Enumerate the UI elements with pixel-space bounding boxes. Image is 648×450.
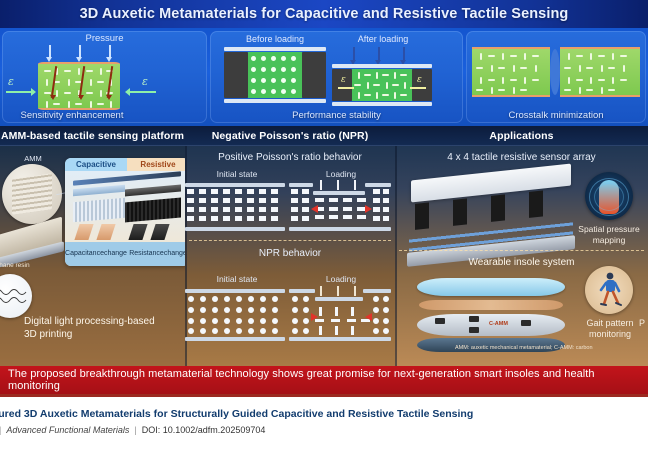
- resin-label: ...thane resin: [0, 262, 72, 269]
- page-title: 3D Auxetic Metamaterials for Capacitive …: [80, 6, 569, 22]
- printing-label-line2: 3D printing: [24, 329, 185, 340]
- before-loading-label: Before loading: [220, 34, 330, 44]
- ppr-initial-top-plate: [185, 183, 285, 187]
- stability-caption: Performance stability: [210, 110, 463, 121]
- polymer-chain-icon: [0, 274, 32, 318]
- mapping-label-line1: Spatial pressure: [573, 224, 645, 234]
- banner-panel-sensitivity: Pressure: [2, 31, 207, 123]
- after-electrode-right: [412, 69, 432, 101]
- before-dielectric: [248, 52, 302, 98]
- capacitance-change-label: Capacitance change: [65, 242, 127, 266]
- amm-circle-photo: [2, 164, 62, 224]
- doi-text[interactable]: DOI: 10.1002/adfm.202509704: [142, 425, 266, 435]
- citation-block: ...nufactured 3D Auxetic Metamaterials f…: [0, 394, 648, 450]
- npr-divider: [189, 240, 391, 241]
- npr-contraction-arrow-left: [311, 313, 318, 321]
- npr-loading-bottom-plate: [289, 337, 391, 341]
- main-content: AMM-based tactile sensing platform AMM .…: [0, 126, 648, 366]
- ppr-loading-label: Loading: [293, 169, 389, 179]
- sensitivity-caption: Sensitivity enhancement: [2, 110, 162, 121]
- load-arrow-3: [403, 47, 405, 61]
- sensor-stack-header: Capacitive Resistive: [65, 158, 185, 171]
- after-electrode-left: [332, 69, 352, 101]
- ppr-expansion-arrow-left: [311, 205, 318, 213]
- strain-arrow-left: [6, 91, 32, 93]
- insole-layer-top: [417, 278, 565, 296]
- npr-header-text: Negative Poisson's ratio (NPR): [212, 130, 369, 142]
- stack-layer-res-pillars: [125, 198, 181, 223]
- page-title-bar: 3D Auxetic Metamaterials for Capacitive …: [0, 0, 648, 28]
- highlight-banner-text: The proposed breakthrough metamaterial t…: [8, 368, 648, 392]
- npr-initial-lattice: [185, 294, 285, 336]
- applications-section-header: Applications: [395, 126, 648, 146]
- amm-label: AMM: [8, 154, 58, 163]
- platform-header-text: AMM-based tactile sensing platform: [1, 130, 184, 142]
- sensor-stack-footer: Capacitance change Resistance change: [65, 242, 185, 266]
- platform-section-header: AMM-based tactile sensing platform: [0, 126, 185, 146]
- mapping-label-line2: mapping: [573, 235, 645, 245]
- applications-divider: [399, 250, 644, 251]
- stack-layer-res-1: [125, 185, 181, 197]
- insole-layer-sensor: C-AMM: [417, 314, 565, 336]
- electrode-res-2: [150, 224, 169, 240]
- paper-title: ...nufactured 3D Auxetic Metamaterials f…: [0, 408, 648, 420]
- gait-circle-icon: [585, 266, 633, 314]
- npr-initial-bottom-plate: [185, 337, 285, 341]
- resistance-change-line2: change: [164, 250, 185, 258]
- load-arrow-2: [378, 47, 380, 61]
- column-applications: Applications 4 x 4 tactile resistive sen…: [395, 126, 648, 366]
- resistive-label: Resistive: [127, 158, 185, 171]
- after-strain-arrow-right: [410, 87, 426, 89]
- after-dielectric: [352, 69, 412, 101]
- before-electrode-right: [302, 52, 326, 98]
- stack-layer-top: [73, 171, 181, 185]
- ppr-expansion-arrow-right: [365, 205, 372, 213]
- citation-rule: [0, 394, 648, 397]
- abbreviation-footnote: AMM: auxetic mechanical metamaterial; C-…: [455, 345, 593, 351]
- walking-person-icon: [585, 266, 633, 314]
- strain-symbol-left: ε: [8, 75, 14, 88]
- before-bottom-plate: [224, 99, 326, 103]
- stack-layer-cap-1: [73, 185, 125, 197]
- ppr-initial-lattice: [185, 188, 285, 226]
- npr-loading-lattice: [289, 294, 391, 336]
- stack-layer-cap-pillars: [73, 198, 125, 223]
- crosstalk-slab-right: [560, 47, 640, 97]
- strain-symbol-right: ε: [142, 75, 148, 88]
- applications-header-text: Applications: [489, 130, 553, 142]
- crosstalk-slab-left: [472, 47, 550, 97]
- npr-initial-top-plate: [185, 289, 285, 293]
- compression-arrowhead-1: [50, 95, 56, 100]
- pressure-label: Pressure: [2, 33, 207, 44]
- column-npr: Negative Poisson's ratio (NPR) Positive …: [185, 126, 395, 366]
- ppr-loading-lattice: [289, 188, 391, 226]
- resistance-change-label: Resistance change: [127, 242, 185, 266]
- ppr-subtitle: Positive Poisson's ratio behavior: [185, 152, 395, 163]
- insole-chip-label: C-AMM: [489, 321, 508, 327]
- electrode-res-1: [128, 224, 147, 240]
- npr-section-header: Negative Poisson's ratio (NPR): [185, 126, 395, 146]
- highlight-banner: The proposed breakthrough metamaterial t…: [0, 366, 648, 394]
- ppr-loading-plate-left: [289, 183, 313, 187]
- gait-label-line2: monitoring: [577, 329, 643, 339]
- pressure-map-circle: [585, 172, 633, 220]
- banner-panel-stability: Before loading After loading: [210, 31, 463, 123]
- resistance-change-line1: Resistance: [129, 250, 164, 258]
- npr-subtitle: NPR behavior: [185, 248, 395, 259]
- electrode-cap-1: [74, 224, 93, 240]
- ppr-loading-bottom-plate: [289, 227, 391, 231]
- printing-label-line1: Digital light processing-based: [24, 316, 185, 327]
- ppr-initial-bottom-plate: [185, 227, 285, 231]
- capacitance-change-line1: Capacitance: [65, 250, 104, 258]
- after-strain-arrow-left: [338, 87, 354, 89]
- before-top-plate: [224, 47, 326, 51]
- sensor-array-title: 4 x 4 tactile resistive sensor array: [395, 152, 648, 163]
- strain-arrow-right: [130, 91, 156, 93]
- load-arrow-1: [353, 47, 355, 61]
- clipped-right-label: P: [639, 318, 648, 328]
- compression-arrowhead-2: [78, 95, 84, 100]
- crosstalk-caption: Crosstalk minimization: [466, 110, 646, 121]
- strain-arrowhead-left: [31, 88, 36, 96]
- column-platform: AMM-based tactile sensing platform AMM .…: [0, 126, 185, 366]
- gait-label-line1: Gait pattern: [577, 318, 643, 328]
- after-loading-label: After loading: [328, 34, 438, 44]
- npr-loading-label: Loading: [293, 274, 389, 284]
- after-bottom-plate: [332, 102, 432, 106]
- npr-initial-label: Initial state: [189, 274, 285, 284]
- after-strain-right: ε: [417, 75, 422, 85]
- after-strain-left: ε: [341, 75, 346, 85]
- journal-name: Advanced Functional Materials: [6, 425, 129, 435]
- top-banner: Pressure: [0, 28, 648, 126]
- citation-line: |Advanced Functional Materials|DOI: 10.1…: [0, 425, 648, 435]
- ppr-loading-plate-right: [365, 183, 391, 187]
- npr-loading-plate-right: [363, 289, 391, 293]
- graphical-abstract: 3D Auxetic Metamaterials for Capacitive …: [0, 0, 648, 450]
- resin-molecule-circle: [0, 274, 32, 318]
- insole-layer-adhesive: [419, 300, 563, 310]
- npr-loading-plate-left: [289, 289, 315, 293]
- banner-panel-crosstalk: Crosstalk minimization: [466, 31, 646, 123]
- npr-contraction-arrow-right: [365, 313, 372, 321]
- strain-arrowhead-right: [125, 88, 130, 96]
- capacitance-change-line2: change: [104, 250, 127, 258]
- before-electrode-left: [224, 52, 248, 98]
- citation-sep-2: |: [129, 425, 141, 435]
- compression-arrowhead-3: [106, 95, 112, 100]
- after-top-plate: [332, 64, 432, 68]
- ppr-initial-label: Initial state: [189, 169, 285, 179]
- sensor-stack-card: Capacitive Resistive Capacitance change: [65, 158, 185, 266]
- crosstalk-gap: [550, 49, 560, 95]
- electrode-cap-2: [96, 224, 115, 240]
- capacitive-label: Capacitive: [65, 158, 127, 171]
